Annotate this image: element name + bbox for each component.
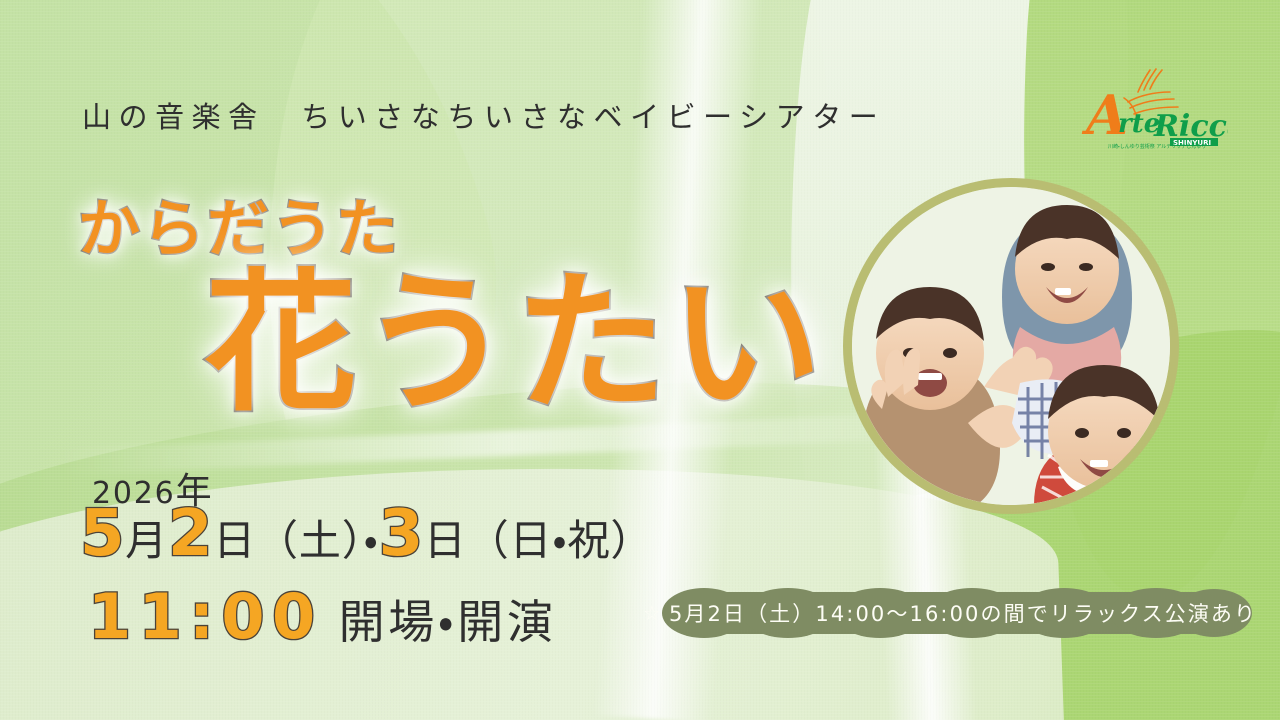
time-value: 11:00 [88, 580, 323, 653]
babies-photo [852, 187, 1170, 505]
day2-unit: 日（日・祝） [424, 516, 653, 565]
logo-sub-jp: 川崎・しんゆり芸術祭 アルテリッチしんゆり [1108, 143, 1206, 150]
poster-content: 山の音楽舎 ちいさなちいさなベイビーシアター A rte Ricca SHINY… [0, 0, 1280, 720]
relax-performance-banner[interactable]: ☆5月2日（土）14:00〜16:00の間でリラックス公演あり [648, 588, 1252, 638]
relax-banner-text-row: ☆5月2日（土）14:00〜16:00の間でリラックス公演あり [648, 588, 1252, 638]
poster-canvas: 山の音楽舎 ちいさなちいさなベイビーシアター A rte Ricca SHINY… [0, 0, 1280, 720]
performance-dates: 5月2日（土）・3日（日・祝） [80, 502, 653, 566]
performance-time: 11:00開場・開演 [88, 586, 557, 648]
month-number: 5 [80, 497, 125, 571]
date-separator: ・ [364, 516, 379, 565]
day1-number: 2 [168, 497, 213, 571]
arte-ricca-logo[interactable]: A rte Ricca SHINYURI 川崎・しんゆり芸術祭 アルテリッチしん… [1068, 58, 1228, 150]
series-title: 山の音楽舎 ちいさなちいさなベイビーシアター [82, 94, 885, 136]
month-unit: 月 [125, 516, 168, 565]
page-title: 花うたい [205, 268, 825, 420]
photo-ring-border [843, 178, 1179, 514]
day2-number: 3 [379, 497, 424, 571]
day1-unit: 日（土） [213, 516, 363, 565]
star-icon: ☆ [643, 603, 663, 623]
relax-banner-text: 5月2日（土）14:00〜16:00の間でリラックス公演あり [669, 598, 1257, 628]
time-note: 開場・開演 [339, 595, 557, 649]
